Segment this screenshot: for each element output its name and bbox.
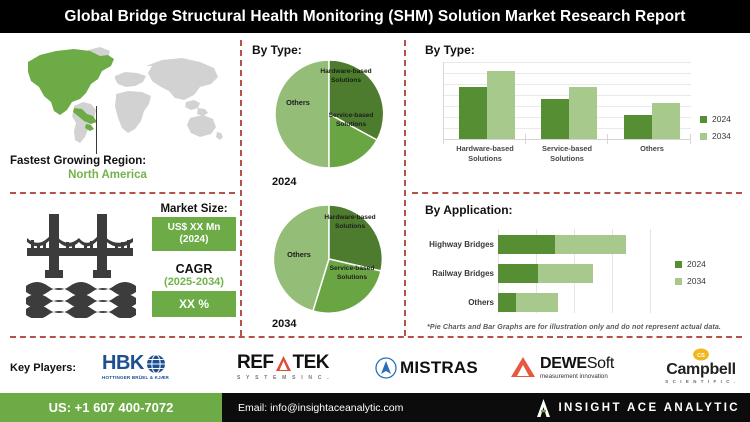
logo-campbell: CS Campbell S C I E N T I F I C . bbox=[655, 348, 747, 384]
logo-dewesoft: DEWE Soft measurement innovation bbox=[510, 352, 614, 382]
logo-hbk: HBK HOTTINGER BRÜEL & KJÆR bbox=[102, 352, 214, 384]
market-size-value: US$ XX Mn bbox=[168, 222, 221, 235]
legend-item-2024: 2024 bbox=[700, 114, 731, 124]
app-legend-label-2034: 2034 bbox=[687, 276, 706, 286]
map-pointer-line bbox=[96, 106, 97, 154]
campbell-badge-icon: CS bbox=[692, 348, 710, 361]
logo-dewesoft-text-b: Soft bbox=[587, 355, 614, 373]
footer-info-block: Email: info@insightaceanalytic.com INSIG… bbox=[222, 393, 750, 422]
legend-label-2034: 2034 bbox=[712, 131, 731, 141]
pie-2034-label-hardware: Hardware-based Solutions bbox=[322, 214, 378, 232]
logo-campbell-subtext: S C I E N T I F I C . bbox=[665, 379, 736, 384]
fastest-growing-region-label: Fastest Growing Region: bbox=[10, 155, 225, 167]
application-category-railway: Railway Bridges bbox=[420, 264, 494, 283]
application-bar-2034-highway bbox=[555, 235, 626, 254]
dewesoft-mark-icon bbox=[510, 355, 536, 379]
divider-horizontal-left bbox=[10, 192, 235, 194]
app-legend-item-2034: 2034 bbox=[675, 276, 706, 286]
logo-reftek: REF TEK S Y S T E M S I N C . bbox=[237, 352, 355, 384]
footer-phone-block[interactable]: US: +1 607 400-7072 bbox=[0, 393, 222, 422]
logo-hbk-subtext: HOTTINGER BRÜEL & KJÆR bbox=[102, 375, 169, 380]
type-bar-2024-others bbox=[624, 115, 652, 139]
application-bar-railway bbox=[498, 264, 593, 283]
footer-brand-text: INSIGHT ACE ANALYTIC bbox=[558, 402, 740, 414]
cagr-label: CAGR bbox=[148, 262, 240, 276]
pie-2034-year: 2034 bbox=[272, 318, 296, 330]
type-category-others: Others bbox=[618, 144, 686, 154]
legend-swatch-2034 bbox=[700, 133, 707, 140]
type-bar-2034-others bbox=[652, 103, 680, 139]
type-bar-2024-hardware bbox=[459, 87, 487, 139]
divider-vertical-right bbox=[404, 40, 406, 336]
application-bar-2034-others bbox=[516, 293, 558, 312]
type-category-service: Service-based Solutions bbox=[533, 144, 601, 165]
footer-phone: US: +1 607 400-7072 bbox=[49, 400, 174, 415]
application-bar-others bbox=[498, 293, 558, 312]
application-bar-2034-railway bbox=[538, 264, 593, 283]
application-bar-2024-others bbox=[498, 293, 516, 312]
type-category-hardware: Hardware-based Solutions bbox=[451, 144, 519, 165]
footer-email[interactable]: Email: info@insightaceanalytic.com bbox=[238, 402, 403, 414]
application-chart-heading: By Application: bbox=[425, 203, 513, 217]
pie-2024-label-hardware: Hardware-based Solutions bbox=[318, 68, 374, 86]
cagr-value: XX % bbox=[179, 297, 209, 312]
app-legend-swatch-2034 bbox=[675, 278, 682, 285]
infographic-root: Global Bridge Structural Health Monitori… bbox=[0, 0, 750, 422]
market-size-label: Market Size: bbox=[148, 203, 240, 215]
type-chart-heading: By Type: bbox=[425, 43, 475, 57]
logo-reftek-subtext: S Y S T E M S I N C . bbox=[237, 375, 331, 381]
application-category-highway: Highway Bridges bbox=[420, 235, 494, 254]
pie-2024-year: 2024 bbox=[272, 176, 296, 188]
app-legend-swatch-2024 bbox=[675, 261, 682, 268]
page-title: Global Bridge Structural Health Monitori… bbox=[64, 8, 685, 26]
legend-label-2024: 2024 bbox=[712, 114, 731, 124]
pie-2024-label-others: Others bbox=[279, 98, 317, 108]
insight-ace-logo-icon bbox=[536, 398, 551, 418]
footer-brand: INSIGHT ACE ANALYTIC bbox=[536, 393, 740, 422]
type-chart-legend: 2024 2034 bbox=[700, 114, 731, 148]
key-players-label: Key Players: bbox=[10, 362, 76, 374]
application-category-others: Others bbox=[420, 293, 494, 312]
divider-horizontal-right bbox=[412, 192, 742, 194]
app-legend-label-2024: 2024 bbox=[687, 259, 706, 269]
logo-reftek-text-b: TEK bbox=[293, 352, 330, 374]
triangle-icon bbox=[275, 355, 292, 372]
mistras-mark-icon bbox=[375, 357, 397, 379]
type-bar-2034-service bbox=[569, 87, 597, 139]
footer-bar: US: +1 607 400-7072 Email: info@insighta… bbox=[0, 393, 750, 422]
logo-hbk-text: HBK bbox=[102, 352, 144, 375]
world-map-icon bbox=[12, 42, 234, 150]
pie-2034-label-service: Service-based Solutions bbox=[321, 265, 383, 283]
bridge-icon bbox=[22, 208, 142, 318]
pie-2034-label-others: Others bbox=[280, 250, 318, 260]
legend-swatch-2024 bbox=[700, 116, 707, 123]
type-bar-chart: Hardware-based Solutions Service-based S… bbox=[443, 62, 733, 167]
divider-vertical-left bbox=[240, 40, 242, 336]
pie-section-heading: By Type: bbox=[252, 43, 302, 57]
cagr-box: XX % bbox=[152, 291, 236, 317]
type-bar-2034-hardware bbox=[487, 71, 515, 139]
logo-mistras-text: MISTRAS bbox=[400, 358, 478, 378]
divider-horizontal-bottom bbox=[10, 336, 742, 338]
logo-dewesoft-text-a: DEWE bbox=[540, 355, 587, 373]
chart-footnote: *Pie Charts and Bar Graphs are for illus… bbox=[427, 323, 721, 331]
application-bar-2024-highway bbox=[498, 235, 555, 254]
legend-item-2034: 2034 bbox=[700, 131, 731, 141]
application-bar-chart: Highway Bridges Railway Bridges Others 2… bbox=[420, 225, 740, 320]
pie-2024-label-service: Service-based Solutions bbox=[320, 112, 382, 130]
market-size-year: (2024) bbox=[180, 234, 209, 247]
app-legend-item-2024: 2024 bbox=[675, 259, 706, 269]
logo-reftek-text-a: REF bbox=[237, 352, 274, 374]
application-bar-highway bbox=[498, 235, 626, 254]
type-bar-2024-service bbox=[541, 99, 569, 139]
logo-dewesoft-subtext: measurement innovation bbox=[540, 373, 608, 380]
svg-text:CS: CS bbox=[697, 353, 705, 359]
market-size-box: US$ XX Mn (2024) bbox=[152, 217, 236, 251]
logo-mistras: MISTRAS bbox=[375, 356, 478, 380]
logo-campbell-text: Campbell bbox=[666, 361, 736, 379]
application-chart-legend: 2024 2034 bbox=[675, 259, 706, 293]
cagr-years: (2025-2034) bbox=[148, 276, 240, 288]
globe-icon bbox=[146, 354, 166, 374]
fastest-growing-region-value: North America bbox=[10, 169, 205, 181]
application-bar-2024-railway bbox=[498, 264, 538, 283]
page-title-bar: Global Bridge Structural Health Monitori… bbox=[0, 0, 750, 33]
